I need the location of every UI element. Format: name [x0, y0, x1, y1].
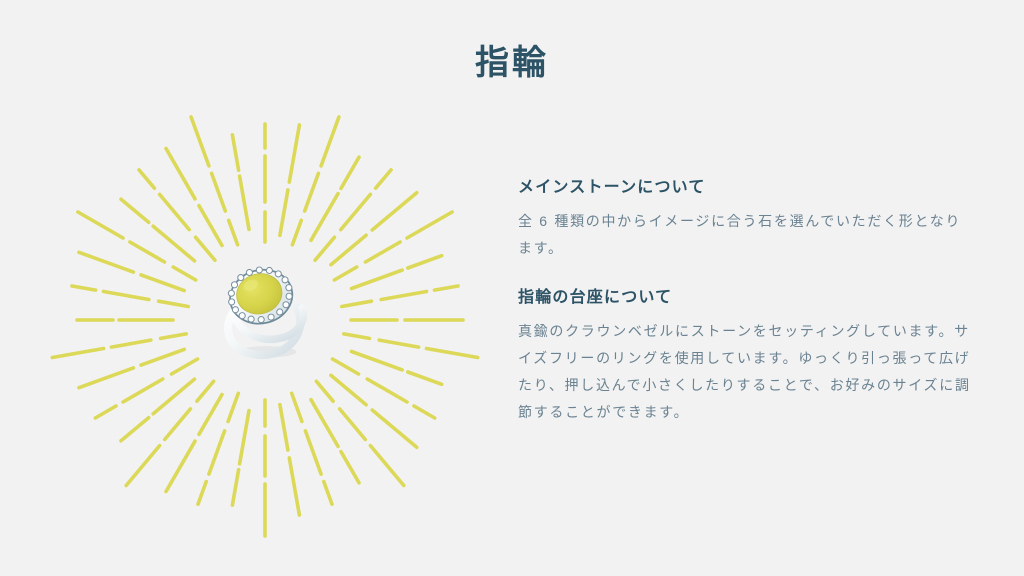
slide-root: 指輪 — [0, 0, 1024, 576]
product-illustration — [40, 130, 490, 510]
page-title: 指輪 — [0, 42, 1024, 85]
section-body: 全 6 種類の中からイメージに合う石を選んでいただく形となります。 — [518, 208, 974, 262]
description-column: メインストーンについて 全 6 種類の中からイメージに合う石を選んでいただく形と… — [518, 176, 974, 426]
section-ring-setting: 指輪の台座について 真鍮のクラウンベゼルにストーンをセッティングしています。サイ… — [518, 286, 974, 426]
section-heading: 指輪の台座について — [518, 286, 974, 310]
section-body: 真鍮のクラウンベゼルにストーンをセッティングしています。サイズフリーのリングを使… — [518, 318, 974, 426]
ring-with-gemstone-icon — [208, 253, 322, 367]
section-heading: メインストーンについて — [518, 176, 974, 200]
section-main-stone: メインストーンについて 全 6 種類の中からイメージに合う石を選んでいただく形と… — [518, 176, 974, 262]
